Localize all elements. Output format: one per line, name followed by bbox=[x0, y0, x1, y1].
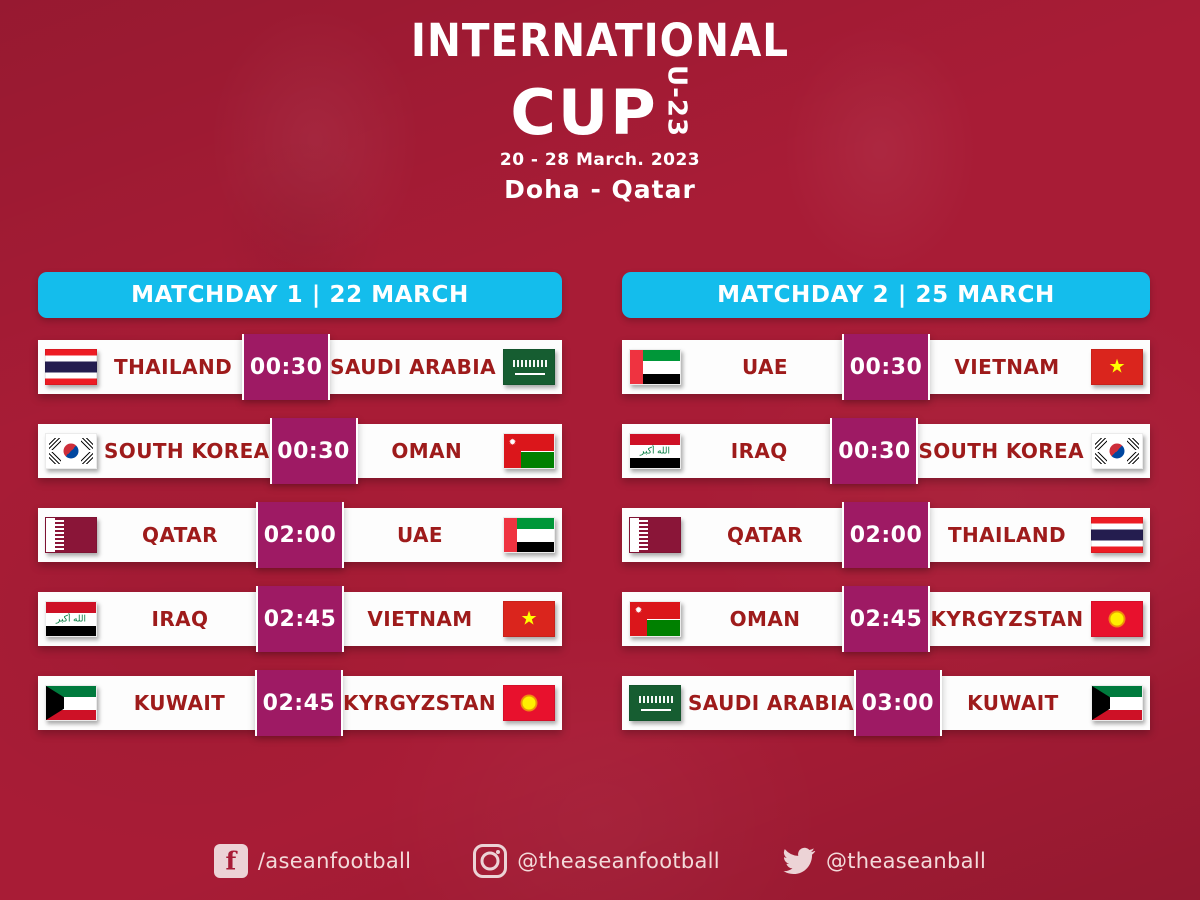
flag-emblem-icon: ★ bbox=[520, 610, 537, 629]
away-team-name: KYRGYZSTAN bbox=[343, 691, 496, 715]
flag-iraq-icon: الله أكبر bbox=[629, 433, 681, 469]
home-team-name: IRAQ bbox=[104, 607, 256, 631]
home-team-name: IRAQ bbox=[688, 439, 830, 463]
tournament-title-line2-wrap: CUP U-23 bbox=[0, 65, 1200, 143]
matchday-column-1: MATCHDAY 1 | 22 MARCH THAILAND00:30SAUDI… bbox=[0, 272, 600, 730]
flag-oman-icon: ✹ bbox=[629, 601, 681, 637]
flag-emblem-icon: ★ bbox=[1108, 358, 1125, 377]
match-row[interactable]: الله أكبرIRAQ02:45VIETNAM★ bbox=[38, 592, 562, 646]
matchday-column-2: MATCHDAY 2 | 25 MARCH UAE00:30VIETNAM★ال… bbox=[600, 272, 1200, 730]
match-time: 02:45 bbox=[255, 670, 343, 736]
flag-cell bbox=[622, 349, 688, 385]
away-team-name: OMAN bbox=[358, 439, 496, 463]
tournament-title-line2: CUP bbox=[510, 84, 657, 143]
away-team-name: VIETNAM bbox=[930, 355, 1084, 379]
flag-thailand-icon bbox=[1091, 517, 1143, 553]
match-row[interactable]: THAILAND00:30SAUDI ARABIA bbox=[38, 340, 562, 394]
away-team-name: KYRGYZSTAN bbox=[930, 607, 1084, 631]
match-row[interactable]: الله أكبرIRAQ00:30SOUTH KOREA bbox=[622, 424, 1150, 478]
flag-kuwait-icon bbox=[1091, 685, 1143, 721]
home-team-name: SAUDI ARABIA bbox=[688, 691, 854, 715]
home-team-name: KUWAIT bbox=[104, 691, 255, 715]
match-row[interactable]: ✹OMAN02:45KYRGYZSTAN bbox=[622, 592, 1150, 646]
flag-saudi-icon bbox=[629, 685, 681, 721]
tournament-venue: Doha - Qatar bbox=[0, 175, 1200, 204]
flag-cell bbox=[496, 517, 562, 553]
match-time: 00:30 bbox=[270, 418, 358, 484]
match-row[interactable]: QATAR02:00THAILAND bbox=[622, 508, 1150, 562]
away-team-name: KUWAIT bbox=[942, 691, 1084, 715]
flag-cell bbox=[38, 349, 104, 385]
social-handle: @theaseanfootball bbox=[517, 849, 720, 873]
match-row[interactable]: UAE00:30VIETNAM★ bbox=[622, 340, 1150, 394]
flag-cell: ★ bbox=[1084, 349, 1150, 385]
flag-cell bbox=[1084, 433, 1150, 469]
flag-qatar-icon bbox=[629, 517, 681, 553]
flag-oman-icon: ✹ bbox=[503, 433, 555, 469]
flag-cell: الله أكبر bbox=[622, 433, 688, 469]
instagram-icon[interactable] bbox=[473, 844, 507, 878]
social-link-facebook[interactable]: /aseanfootball bbox=[214, 844, 411, 878]
home-team-name: QATAR bbox=[104, 523, 256, 547]
flag-cell bbox=[622, 685, 688, 721]
flag-cell bbox=[38, 517, 104, 553]
flag-emblem-icon bbox=[522, 696, 537, 711]
match-time: 00:30 bbox=[842, 334, 930, 400]
flag-cell: ✹ bbox=[622, 601, 688, 637]
social-handle: @theaseanball bbox=[826, 849, 986, 873]
tournament-title-line1: INTERNATIONAL bbox=[0, 18, 1200, 63]
flag-southkorea-icon bbox=[45, 433, 97, 469]
match-time: 02:00 bbox=[842, 502, 930, 568]
flag-cell bbox=[1084, 685, 1150, 721]
flag-emblem-icon: ✹ bbox=[508, 438, 517, 447]
flag-cell: الله أكبر bbox=[38, 601, 104, 637]
matchday-1-rows: THAILAND00:30SAUDI ARABIASOUTH KOREA00:3… bbox=[38, 340, 562, 730]
home-team-name: UAE bbox=[688, 355, 842, 379]
flag-uae-icon bbox=[503, 517, 555, 553]
away-team-name: THAILAND bbox=[930, 523, 1084, 547]
flag-cell bbox=[38, 433, 104, 469]
match-time: 02:00 bbox=[256, 502, 344, 568]
social-link-instagram[interactable]: @theaseanfootball bbox=[473, 844, 720, 878]
flag-emblem-icon: الله أكبر bbox=[56, 614, 86, 625]
flag-saudi-icon bbox=[503, 349, 555, 385]
flag-southkorea-icon bbox=[1091, 433, 1143, 469]
match-time: 02:45 bbox=[256, 586, 344, 652]
matchday-2-header: MATCHDAY 2 | 25 MARCH bbox=[622, 272, 1150, 318]
flag-kyrgyzstan-icon bbox=[1091, 601, 1143, 637]
match-time: 02:45 bbox=[842, 586, 930, 652]
matchday-columns: MATCHDAY 1 | 22 MARCH THAILAND00:30SAUDI… bbox=[0, 272, 1200, 730]
flag-emblem-icon: ✹ bbox=[634, 606, 643, 615]
flag-vietnam-icon: ★ bbox=[503, 601, 555, 637]
flag-cell: ★ bbox=[496, 601, 562, 637]
flag-cell bbox=[622, 517, 688, 553]
facebook-icon[interactable] bbox=[214, 844, 248, 878]
matchday-2-rows: UAE00:30VIETNAM★الله أكبرIRAQ00:30SOUTH … bbox=[622, 340, 1150, 730]
match-row[interactable]: KUWAIT02:45KYRGYZSTAN bbox=[38, 676, 562, 730]
away-team-name: SAUDI ARABIA bbox=[330, 355, 496, 379]
social-handle: /aseanfootball bbox=[258, 849, 411, 873]
away-team-name: VIETNAM bbox=[344, 607, 496, 631]
flag-vietnam-icon: ★ bbox=[1091, 349, 1143, 385]
match-time: 03:00 bbox=[854, 670, 942, 736]
tournament-header: INTERNATIONAL CUP U-23 20 - 28 March. 20… bbox=[0, 18, 1200, 204]
social-link-twitter[interactable]: @theaseanball bbox=[782, 844, 986, 878]
away-team-name: UAE bbox=[344, 523, 496, 547]
flag-qatar-icon bbox=[45, 517, 97, 553]
flag-cell bbox=[1084, 517, 1150, 553]
home-team-name: THAILAND bbox=[104, 355, 242, 379]
flag-kyrgyzstan-icon bbox=[503, 685, 555, 721]
flag-emblem-icon bbox=[1110, 612, 1125, 627]
tournament-dates: 20 - 28 March. 2023 bbox=[0, 150, 1200, 170]
match-time: 00:30 bbox=[242, 334, 330, 400]
social-footer: /aseanfootball@theaseanfootball@theasean… bbox=[0, 844, 1200, 878]
tournament-age-group: U-23 bbox=[664, 65, 690, 143]
flag-cell bbox=[496, 349, 562, 385]
match-time: 00:30 bbox=[830, 418, 918, 484]
away-team-name: SOUTH KOREA bbox=[918, 439, 1084, 463]
flag-cell bbox=[496, 685, 562, 721]
flag-iraq-icon: الله أكبر bbox=[45, 601, 97, 637]
flag-uae-icon bbox=[629, 349, 681, 385]
match-row[interactable]: SAUDI ARABIA03:00KUWAIT bbox=[622, 676, 1150, 730]
flag-cell: ✹ bbox=[496, 433, 562, 469]
flag-thailand-icon bbox=[45, 349, 97, 385]
flag-kuwait-icon bbox=[45, 685, 97, 721]
flag-cell bbox=[1084, 601, 1150, 637]
match-row[interactable]: SOUTH KOREA00:30OMAN✹ bbox=[38, 424, 562, 478]
home-team-name: QATAR bbox=[688, 523, 842, 547]
matchday-1-header: MATCHDAY 1 | 22 MARCH bbox=[38, 272, 562, 318]
home-team-name: SOUTH KOREA bbox=[104, 439, 270, 463]
twitter-icon[interactable] bbox=[782, 844, 816, 878]
home-team-name: OMAN bbox=[688, 607, 842, 631]
flag-cell bbox=[38, 685, 104, 721]
flag-emblem-icon: الله أكبر bbox=[640, 446, 670, 457]
match-row[interactable]: QATAR02:00UAE bbox=[38, 508, 562, 562]
